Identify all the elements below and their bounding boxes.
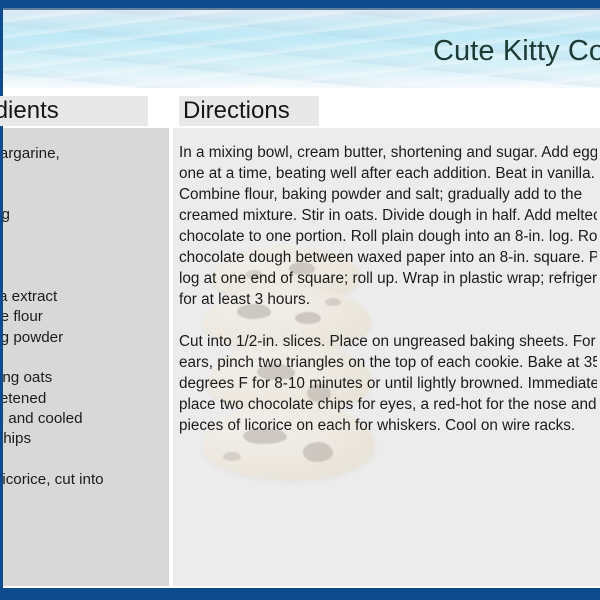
ingredient-item: 3 cups all-purpose flour xyxy=(3,307,169,327)
ingredient-spacer xyxy=(3,185,169,205)
ingredients-list: 1 cup butter or margarine,softened 1/2 c… xyxy=(3,144,169,511)
ingredient-item: 1/2 cup shortening xyxy=(3,205,169,225)
chocolate-chip xyxy=(303,442,333,462)
recipe-slide: Cute Kitty Coo Ingredients Directions 1 … xyxy=(0,0,600,600)
directions-line: Cut into 1/2-in. slices. Place on ungrea… xyxy=(179,331,600,352)
ingredient-item: 1 cup chocolate chips xyxy=(3,429,169,449)
ingredient-item: chocolate, melted and cooled xyxy=(3,409,169,429)
ingredient-item: softened xyxy=(3,164,169,184)
directions-panel: In a mixing bowl, cream butter, shorteni… xyxy=(173,128,600,586)
ingredient-item: 1 teaspoon salt xyxy=(3,348,169,368)
ingredient-item: 2 eggs xyxy=(3,246,169,266)
ingredient-item: red-hot candies xyxy=(3,450,169,470)
directions-line: degrees F for 8-10 minutes or until ligh… xyxy=(179,373,600,394)
top-border-bar xyxy=(0,0,600,8)
page-title: Cute Kitty Coo xyxy=(433,36,600,66)
directions-heading-label: Directions xyxy=(179,96,319,126)
directions-text: In a mixing bowl, cream butter, shorteni… xyxy=(179,142,600,436)
ingredient-item: 1-in. pieces xyxy=(3,491,169,511)
ingredients-heading-label: Ingredients xyxy=(0,96,148,126)
ingredient-item: 1 teaspoon vanilla extract xyxy=(3,287,169,307)
ingredients-panel: 1 cup butter or margarine,softened 1/2 c… xyxy=(3,128,169,586)
directions-line: one at a time, beating well after each a… xyxy=(179,163,600,184)
directions-line: for at least 3 hours. xyxy=(179,289,600,310)
directions-line: creamed mixture. Stir in oats. Divide do… xyxy=(179,205,600,226)
directions-line: chocolate to one portion. Roll plain dou… xyxy=(179,226,600,247)
ingredient-spacer xyxy=(3,266,169,286)
directions-line: log at one end of square; roll up. Wrap … xyxy=(179,268,600,289)
ingredient-item: black shoestring licorice, cut into xyxy=(3,470,169,490)
ingredient-item: 1 cup sugar xyxy=(3,226,169,246)
directions-heading: Directions xyxy=(179,96,319,126)
directions-line: chocolate dough between waxed paper into… xyxy=(179,247,600,268)
directions-line: place two chocolate chips for eyes, a re… xyxy=(179,394,600,415)
directions-line: Combine flour, baking powder and salt; g… xyxy=(179,184,600,205)
directions-line: pieces of licorice on each for whiskers.… xyxy=(179,415,600,436)
ingredient-item: 1 teaspoon baking powder xyxy=(3,328,169,348)
ingredient-item: 2 squares unsweetened xyxy=(3,389,169,409)
ingredient-item: 1 cup quick-cooking oats xyxy=(3,368,169,388)
ingredients-heading: Ingredients xyxy=(0,96,148,126)
ingredient-item: 1 cup butter or margarine, xyxy=(3,144,169,164)
bottom-border-bar xyxy=(0,588,600,600)
directions-line: In a mixing bowl, cream butter, shorteni… xyxy=(179,142,600,163)
title-banner: Cute Kitty Coo xyxy=(3,10,600,88)
paragraph-spacer xyxy=(179,310,600,331)
chocolate-chip xyxy=(223,452,241,461)
directions-line: ears, pinch two triangles on the top of … xyxy=(179,352,600,373)
